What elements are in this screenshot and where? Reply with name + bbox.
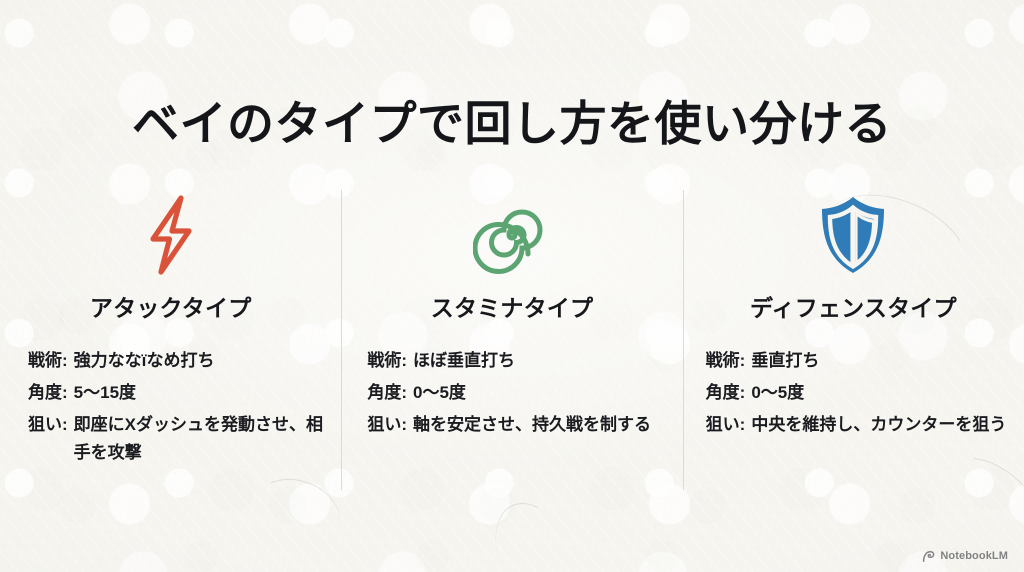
spec-label: 狙い: <box>706 411 752 439</box>
slide-canvas: ベイのタイプで回し方を使い分ける アタックタイプ 戦術: 強力ななїなめ打ち 角… <box>0 0 1024 572</box>
column-heading: ディフェンスタイプ <box>750 293 957 323</box>
notebooklm-logo-icon <box>922 550 935 563</box>
column-heading: スタミナタイプ <box>431 293 593 323</box>
spec-label: 角度: <box>367 379 413 407</box>
spec-list: 戦術: ほぼ垂直打ち 角度: 0〜5度 狙い: 軸を安定させ、持久戦を制する <box>359 347 682 439</box>
spec-label: 戦術: <box>367 347 413 375</box>
shield-icon <box>815 189 891 281</box>
spiral-icon <box>473 189 551 281</box>
paper-fibre <box>480 490 591 572</box>
spec-value: 中央を維持し、カウンターを狙う <box>751 411 1011 439</box>
spec-row: 戦術: 垂直打ち <box>706 347 1011 375</box>
type-column-stamina: スタミナタイプ 戦術: ほぼ垂直打ち 角度: 0〜5度 狙い: 軸を安定させ、持… <box>341 185 682 490</box>
spec-value: 即座にXダッシュを発動させ、相手を攻撃 <box>74 411 334 467</box>
spec-label: 戦術: <box>28 347 74 375</box>
spec-row: 角度: 0〜5度 <box>367 379 672 407</box>
watermark-label: NotebookLM <box>940 550 1008 563</box>
type-column-attack: アタックタイプ 戦術: 強力ななїなめ打ち 角度: 5〜15度 狙い: 即座にX… <box>0 185 341 490</box>
notebooklm-watermark: NotebookLM <box>922 550 1008 563</box>
spec-value: 0〜5度 <box>751 379 1011 407</box>
page-title: ベイのタイプで回し方を使い分ける <box>0 93 1024 155</box>
type-columns: アタックタイプ 戦術: 強力ななїなめ打ち 角度: 5〜15度 狙い: 即座にX… <box>0 185 1024 490</box>
spec-value: 軸を安定させ、持久戦を制する <box>413 411 673 439</box>
spec-label: 狙い: <box>28 411 74 439</box>
spec-label: 角度: <box>706 379 752 407</box>
type-column-defense: ディフェンスタイプ 戦術: 垂直打ち 角度: 0〜5度 狙い: 中央を維持し、カ… <box>683 185 1024 490</box>
spec-row: 戦術: 強力ななїなめ打ち <box>28 347 333 375</box>
spec-row: 戦術: ほぼ垂直打ち <box>367 347 672 375</box>
spec-row: 狙い: 中央を維持し、カウンターを狙う <box>706 411 1011 439</box>
spec-row: 狙い: 即座にXダッシュを発動させ、相手を攻撃 <box>28 411 333 467</box>
lightning-bolt-icon <box>140 189 202 281</box>
spec-label: 戦術: <box>706 347 752 375</box>
spec-list: 戦術: 強力ななїなめ打ち 角度: 5〜15度 狙い: 即座にXダッシュを発動さ… <box>18 347 339 467</box>
spec-row: 角度: 5〜15度 <box>28 379 333 407</box>
spec-value: 垂直打ち <box>751 347 1011 375</box>
spec-list: 戦術: 垂直打ち 角度: 0〜5度 狙い: 中央を維持し、カウンターを狙う <box>701 347 1023 439</box>
spec-value: 5〜15度 <box>74 379 334 407</box>
spec-value: 0〜5度 <box>413 379 673 407</box>
spec-row: 角度: 0〜5度 <box>706 379 1011 407</box>
spec-value: 強力ななїなめ打ち <box>74 347 334 375</box>
spec-label: 狙い: <box>367 411 413 439</box>
spec-label: 角度: <box>28 379 74 407</box>
column-heading: アタックタイプ <box>90 293 251 323</box>
spec-value: ほぼ垂直打ち <box>413 347 673 375</box>
spec-row: 狙い: 軸を安定させ、持久戦を制する <box>367 411 672 439</box>
